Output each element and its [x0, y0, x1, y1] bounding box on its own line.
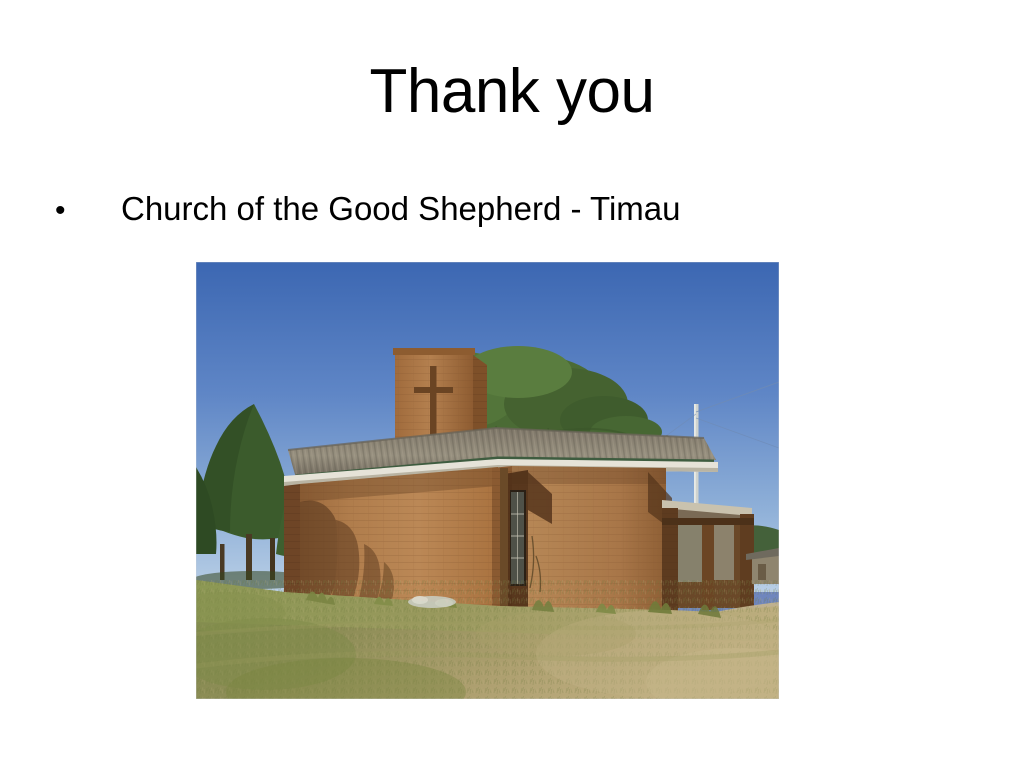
presentation-slide: Thank you • Church of the Good Shepherd … — [0, 0, 1024, 768]
bullet-item-label: Church of the Good Shepherd - Timau — [121, 186, 955, 232]
church-photo-graphic — [196, 262, 779, 699]
tall-window — [510, 490, 526, 586]
bullet-list: • Church of the Good Shepherd - Timau — [55, 186, 955, 234]
bullet-point-icon: • — [55, 188, 121, 234]
flower-patch — [408, 596, 456, 608]
page-title: Thank you — [0, 55, 1024, 129]
list-item: • Church of the Good Shepherd - Timau — [55, 186, 955, 234]
grass-foreground — [196, 580, 779, 699]
church-photograph — [196, 262, 779, 699]
